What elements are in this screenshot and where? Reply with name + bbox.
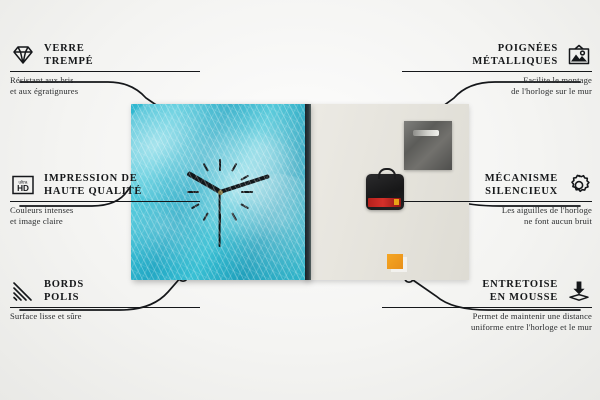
callout-header: BORDS POLIS bbox=[10, 278, 200, 304]
callout-title: IMPRESSION DE HAUTE QUALITÉ bbox=[44, 172, 142, 198]
callout-title: MÉCANISME SILENCIEUX bbox=[485, 172, 558, 198]
callout-header: POIGNÉES MÉTALLIQUES bbox=[402, 42, 592, 68]
clock-tick bbox=[203, 163, 238, 221]
feather-artwork bbox=[193, 165, 309, 280]
clock-tick bbox=[219, 159, 221, 225]
gear-icon bbox=[566, 173, 592, 197]
callout-header: MÉCANISME SILENCIEUX bbox=[402, 172, 592, 198]
hanger-plate-part bbox=[404, 121, 452, 170]
foam-spacer-icon bbox=[566, 279, 592, 303]
callout-impression-hd: ultra HD IMPRESSION DE HAUTE QUALITÉ Cou… bbox=[10, 172, 200, 227]
foam-spacer-part bbox=[387, 254, 403, 269]
callout-subtitle: Résistant aux bris et aux égratignures bbox=[10, 75, 200, 97]
callout-subtitle: Couleurs intenses et image claire bbox=[10, 205, 200, 227]
callout-subtitle: Les aiguilles de l'horloge ne font aucun… bbox=[402, 205, 592, 227]
callout-divider bbox=[402, 71, 592, 72]
callout-mecanisme-silencieux: MÉCANISME SILENCIEUX Les aiguilles de l'… bbox=[402, 172, 592, 227]
callout-title: BORDS POLIS bbox=[44, 278, 84, 304]
polished-edges-icon bbox=[10, 279, 36, 303]
clock-minute-hand bbox=[219, 174, 270, 194]
clock-tick bbox=[219, 159, 221, 225]
callout-subtitle: Surface lisse et sûre bbox=[10, 311, 200, 322]
callout-divider bbox=[382, 307, 592, 308]
picture-frame-icon bbox=[566, 43, 592, 67]
clock-center-hub bbox=[218, 190, 223, 195]
callout-subtitle: Facilite le montage de l'horloge sur le … bbox=[402, 75, 592, 97]
callout-title: ENTRETOISE EN MOUSSE bbox=[482, 278, 558, 304]
callout-poignees-metalliques: POIGNÉES MÉTALLIQUES Facilite le montage… bbox=[402, 42, 592, 97]
callout-header: VERRE TREMPÉ bbox=[10, 42, 200, 68]
callout-divider bbox=[10, 307, 200, 308]
callout-divider bbox=[10, 71, 200, 72]
callout-title: VERRE TREMPÉ bbox=[44, 42, 93, 68]
callout-bords-polis: BORDS POLIS Surface lisse et sûre bbox=[10, 278, 200, 322]
callout-verre-trempe: VERRE TREMPÉ Résistant aux bris et aux é… bbox=[10, 42, 200, 97]
callout-entretoise-mousse: ENTRETOISE EN MOUSSE Permet de maintenir… bbox=[382, 278, 592, 333]
callout-title: POIGNÉES MÉTALLIQUES bbox=[472, 42, 558, 68]
callout-header: ultra HD IMPRESSION DE HAUTE QUALITÉ bbox=[10, 172, 200, 198]
clock-tick bbox=[203, 163, 238, 221]
callout-divider bbox=[402, 201, 592, 202]
svg-text:HD: HD bbox=[17, 184, 29, 193]
callout-subtitle: Permet de maintenir une distance uniform… bbox=[382, 311, 592, 333]
diamond-icon bbox=[10, 43, 36, 67]
clock-tick bbox=[203, 163, 238, 221]
clock-tick bbox=[203, 163, 238, 221]
clock-second-hand bbox=[219, 192, 221, 247]
battery-part bbox=[368, 198, 401, 207]
callout-divider bbox=[10, 201, 200, 202]
infographic-canvas: VERRE TREMPÉ Résistant aux bris et aux é… bbox=[0, 0, 600, 400]
callout-header: ENTRETOISE EN MOUSSE bbox=[382, 278, 592, 304]
ultra-hd-icon: ultra HD bbox=[10, 173, 36, 197]
glass-edge bbox=[305, 104, 311, 280]
mechanism-hanging-loop bbox=[378, 168, 396, 179]
clock-mechanism-part bbox=[366, 174, 404, 210]
